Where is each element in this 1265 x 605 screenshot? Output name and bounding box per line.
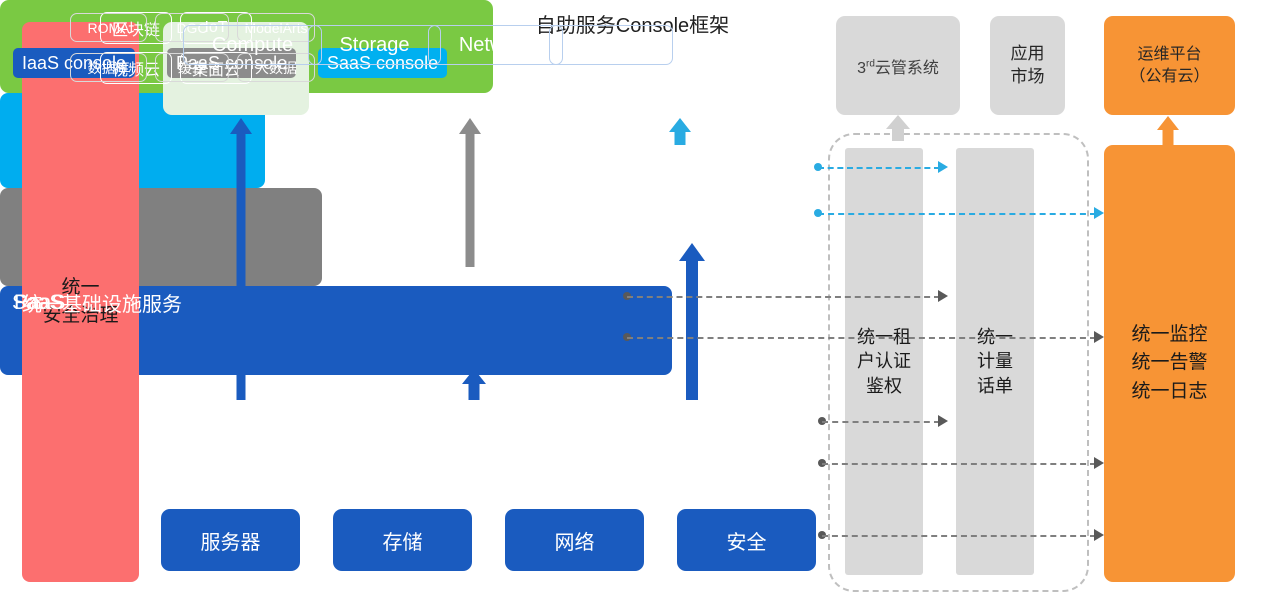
unified-monitoring-panel: 统一监控 统一告警 统一日志 xyxy=(1104,145,1235,582)
connector-arrowhead-infra-ops xyxy=(1094,457,1104,469)
connector-infra-to-ops xyxy=(822,463,1096,465)
bottom-item-storage[interactable]: 存储 xyxy=(333,509,472,571)
connector-arrowhead-saas-ops xyxy=(1094,207,1104,219)
connector-saas-to-auth xyxy=(818,167,940,169)
bottom-item-network[interactable]: 网络 xyxy=(505,509,644,571)
connector-arrowhead-saas-auth xyxy=(938,161,948,173)
unified-monitoring-label: 统一监控 统一告警 统一日志 xyxy=(1131,321,1207,407)
app-market-box: 应用 市场 xyxy=(990,16,1065,115)
arrow-ops-panel-to-ops-platform xyxy=(1157,116,1179,146)
infra-pill-storage[interactable]: Storage xyxy=(308,25,441,65)
architecture-diagram: 统一 安全治理 API网关 自助服务Console框架 IaaS console… xyxy=(0,0,1265,605)
connector-paas-to-ops xyxy=(627,337,1096,339)
arrow-paas-to-console xyxy=(459,118,481,267)
arrow-infra-to-saas xyxy=(679,243,705,400)
third-party-cloud-mgmt-box: 3rd云管系统 xyxy=(836,16,960,115)
connector-arrowhead-infra-billing xyxy=(938,415,948,427)
app-market-label: 应用 市场 xyxy=(1011,43,1045,87)
arrow-infra-to-paas xyxy=(462,369,486,400)
connector-arrowhead-bottom-ops xyxy=(1094,529,1104,541)
infra-pill-network[interactable]: Network xyxy=(428,25,563,65)
ops-platform-box: 运维平台 （公有云） xyxy=(1104,16,1235,115)
infra-pill-cce[interactable]: CCE xyxy=(549,25,673,65)
connector-arrowhead-paas-auth xyxy=(938,290,948,302)
unified-metering-billing-label: 统一 计量 话单 xyxy=(977,325,1013,398)
arrow-infra-to-api-gateway xyxy=(230,118,252,400)
infra-pill-compute[interactable]: Compute xyxy=(183,25,322,65)
unified-infrastructure-label: 统一基础设施服务 xyxy=(22,0,182,605)
bottom-item-security[interactable]: 安全 xyxy=(677,509,816,571)
connector-infra-to-billing xyxy=(822,421,940,423)
bottom-item-server[interactable]: 服务器 xyxy=(161,509,300,571)
unified-infrastructure-box: 统一基础设施服务 Compute Storage Network CCE xyxy=(0,286,672,375)
arrow-shared-to-cloud-mgmt xyxy=(886,115,910,141)
third-party-cloud-mgmt-label: 3rd云管系统 xyxy=(857,54,939,78)
connector-saas-to-ops xyxy=(818,213,1096,215)
arrow-saas-to-console xyxy=(669,118,691,145)
unified-tenant-auth-label: 统一租 户认证 鉴权 xyxy=(857,325,911,398)
ops-platform-label: 运维平台 （公有云） xyxy=(1129,44,1209,87)
connector-bottom-to-ops xyxy=(822,535,1096,537)
connector-arrowhead-paas-ops xyxy=(1094,331,1104,343)
connector-paas-to-auth xyxy=(627,296,940,298)
